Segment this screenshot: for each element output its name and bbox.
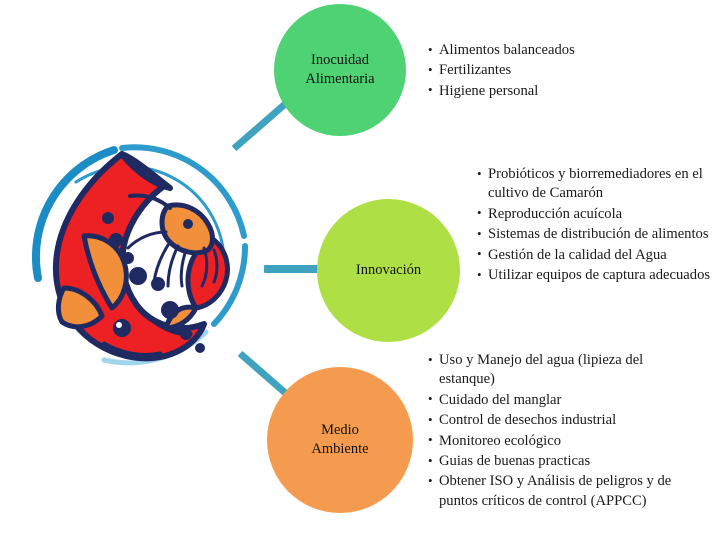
list-item: Gestión de la calidad del Agua (477, 246, 712, 265)
list-item: Alimentos balanceados (428, 41, 678, 60)
list-item: Monitoreo ecológico (428, 432, 698, 451)
fish-and-shrimp-logo (18, 128, 266, 376)
node-circle-innovacion[interactable]: Innovación (317, 199, 460, 342)
list-item: Sistemas de distribución de alimentos (477, 225, 712, 244)
diagram-canvas: Inocuidad Alimentaria Alimentos balancea… (0, 0, 724, 534)
node-circle-medio[interactable]: Medio Ambiente (267, 367, 413, 513)
list-item: Fertilizantes (428, 61, 678, 80)
node-circle-inocuidad[interactable]: Inocuidad Alimentaria (274, 4, 406, 136)
list-item: Cuidado del manglar (428, 391, 698, 410)
list-item: Control de desechos industrial (428, 411, 698, 430)
bullet-list-inocuidad: Alimentos balanceados Fertilizantes Higi… (428, 41, 678, 102)
list-item: Probióticos y biorremediadores en el cul… (477, 165, 712, 204)
list-item: Uso y Manejo del agua (lipieza del estan… (428, 351, 698, 390)
list-item: Obtener ISO y Análisis de peligros y de … (428, 472, 698, 511)
list-item: Reproducción acuícola (477, 205, 712, 224)
list-item: Guias de buenas practicas (428, 452, 698, 471)
node-label-innovacion: Innovación (348, 261, 429, 280)
node-label-medio: Medio Ambiente (303, 421, 376, 458)
list-item: Utilizar equipos de captura adecuados (477, 266, 712, 285)
bullet-list-medio: Uso y Manejo del agua (lipieza del estan… (428, 351, 698, 512)
node-label-inocuidad: Inocuidad Alimentaria (297, 51, 382, 88)
list-item: Higiene personal (428, 82, 678, 101)
bullet-list-innovacion: Probióticos y biorremediadores en el cul… (477, 165, 712, 286)
